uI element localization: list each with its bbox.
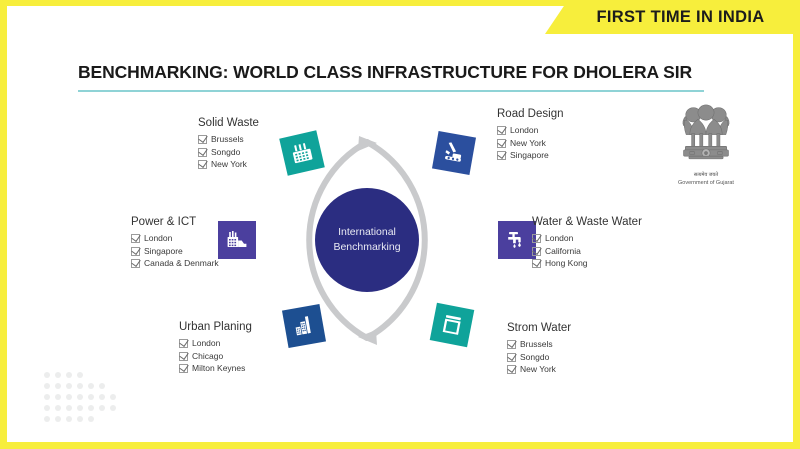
emblem-motto: सत्यमेव जयते [666, 172, 746, 178]
checkbox-icon [131, 247, 140, 256]
list-item: Canada & Denmark [131, 257, 219, 270]
checkbox-icon [198, 135, 207, 144]
factory-icon [288, 139, 317, 168]
center-line-2: Benchmarking [333, 240, 400, 255]
list-item: London [179, 337, 252, 350]
list-item: Milton Keynes [179, 362, 252, 375]
label-block-power-ict: Power & ICT London Singapore Canada & De… [131, 216, 219, 270]
frame-border-left [0, 0, 7, 449]
government-emblem: सत्यमेव जयते Government of Gujarat [666, 104, 746, 186]
label-title-strom-water: Strom Water [507, 322, 571, 334]
label-list-road-design: London New York Singapore [497, 124, 563, 162]
list-item-label: Hong Kong [545, 257, 588, 270]
ashoka-lion-capital-icon [670, 104, 742, 167]
frame-border-right [793, 0, 800, 449]
title-underline [78, 90, 704, 92]
checkbox-icon [507, 353, 516, 362]
label-title-power-ict: Power & ICT [131, 216, 219, 228]
checkbox-icon [131, 234, 140, 243]
icon-tile-strom-water[interactable] [430, 303, 475, 348]
list-item: Songdo [507, 351, 571, 364]
checkbox-icon [497, 126, 506, 135]
list-item: Brussels [198, 133, 259, 146]
checkbox-icon [507, 340, 516, 349]
emblem-caption: Government of Gujarat [666, 180, 746, 186]
power-plant-icon [225, 228, 249, 252]
checkbox-icon [497, 151, 506, 160]
label-title-solid-waste: Solid Waste [198, 117, 259, 129]
icon-tile-power-ict[interactable] [218, 221, 256, 259]
list-item: London [131, 232, 219, 245]
checkbox-icon [532, 234, 541, 243]
list-item: Hong Kong [532, 257, 642, 270]
label-title-road-design: Road Design [497, 108, 563, 120]
checkbox-icon [198, 160, 207, 169]
list-item: Singapore [497, 149, 563, 162]
list-item-label: Brussels [520, 338, 553, 351]
list-item: Chicago [179, 350, 252, 363]
list-item-label: Songdo [520, 351, 549, 364]
checkbox-icon [198, 148, 207, 157]
label-block-urban-planing: Urban Planing London Chicago Milton Keyn… [179, 321, 252, 375]
list-item-label: Milton Keynes [192, 362, 245, 375]
buildings-icon [290, 312, 318, 340]
checkbox-icon [532, 247, 541, 256]
faucet-icon [505, 228, 529, 252]
label-title-water-waste-water: Water & Waste Water [532, 216, 642, 228]
list-item: London [497, 124, 563, 137]
list-item-label: Singapore [144, 245, 183, 258]
list-item-label: London [545, 232, 573, 245]
list-item-label: Canada & Denmark [144, 257, 219, 270]
list-item: New York [507, 363, 571, 376]
list-item-label: New York [520, 363, 556, 376]
first-time-banner-label: FIRST TIME IN INDIA [545, 0, 800, 34]
list-item-label: London [144, 232, 172, 245]
checkbox-icon [497, 139, 506, 148]
list-item: Brussels [507, 338, 571, 351]
list-item-label: Brussels [211, 133, 244, 146]
icon-tile-urban-planing[interactable] [282, 304, 326, 348]
frame-border-bottom [0, 442, 800, 449]
list-item-label: New York [510, 137, 546, 150]
excavator-icon [440, 139, 468, 167]
checkbox-icon [532, 259, 541, 268]
label-list-strom-water: Brussels Songdo New York [507, 338, 571, 376]
list-item-label: London [510, 124, 538, 137]
label-block-solid-waste: Solid Waste Brussels Songdo New York [198, 117, 259, 171]
label-list-solid-waste: Brussels Songdo New York [198, 133, 259, 171]
list-item: New York [497, 137, 563, 150]
list-item-label: California [545, 245, 581, 258]
list-item: New York [198, 158, 259, 171]
list-item: Songdo [198, 146, 259, 159]
list-item: Singapore [131, 245, 219, 258]
list-item-label: Songdo [211, 146, 240, 159]
label-list-urban-planing: London Chicago Milton Keynes [179, 337, 252, 375]
list-item-label: Chicago [192, 350, 223, 363]
slide-canvas: FIRST TIME IN INDIA BENCHMARKING: WORLD … [0, 0, 800, 449]
checkbox-icon [131, 259, 140, 268]
list-item: London [532, 232, 642, 245]
checkbox-icon [179, 339, 188, 348]
label-list-power-ict: London Singapore Canada & Denmark [131, 232, 219, 270]
list-item: California [532, 245, 642, 258]
list-item-label: New York [211, 158, 247, 171]
icon-tile-road-design[interactable] [432, 131, 476, 175]
label-block-strom-water: Strom Water Brussels Songdo New York [507, 322, 571, 376]
center-node: International Benchmarking [315, 188, 419, 292]
checkbox-icon [179, 352, 188, 361]
label-list-water-waste-water: London California Hong Kong [532, 232, 642, 270]
label-title-urban-planing: Urban Planing [179, 321, 252, 333]
checkbox-icon [179, 364, 188, 373]
label-block-road-design: Road Design London New York Singapore [497, 108, 563, 162]
list-item-label: Singapore [510, 149, 549, 162]
water-tank-icon [438, 311, 466, 339]
label-block-water-waste-water: Water & Waste Water London California Ho… [532, 216, 642, 270]
list-item-label: London [192, 337, 220, 350]
center-line-1: International [338, 225, 396, 240]
icon-tile-water-waste-water[interactable] [498, 221, 536, 259]
checkbox-icon [507, 365, 516, 374]
page-title: BENCHMARKING: WORLD CLASS INFRASTRUCTURE… [78, 62, 692, 83]
